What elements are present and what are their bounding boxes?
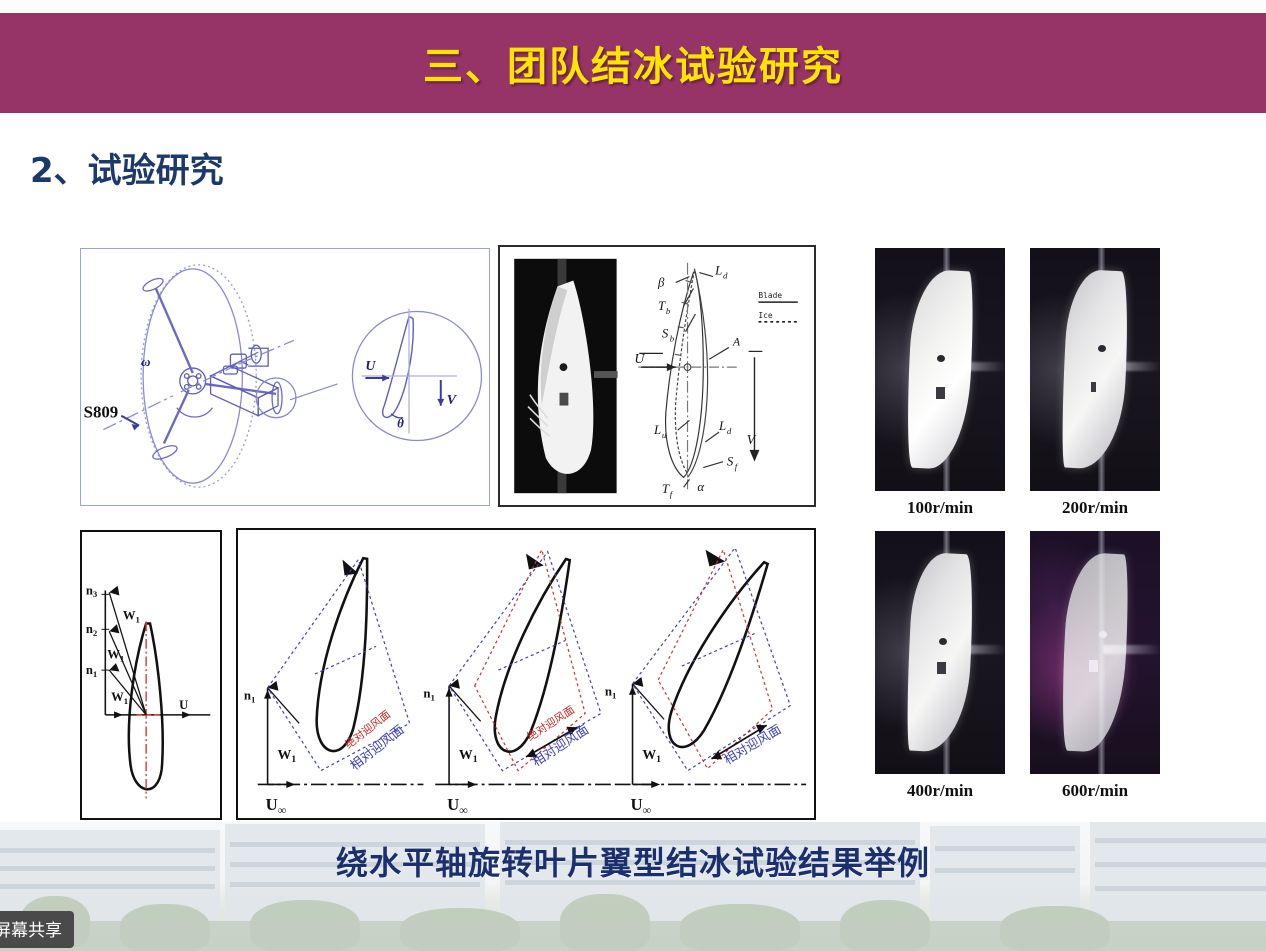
photo-cell-200: 200r/min: [1030, 248, 1160, 518]
ice-photo-200: [1030, 248, 1160, 491]
legend-ice-label: Ice: [758, 311, 772, 320]
label-u-vector: U: [634, 351, 645, 366]
iced-blade: [1059, 551, 1132, 753]
label-tb: T: [658, 299, 666, 313]
label-u: U: [365, 359, 376, 374]
marker-dot: [1098, 345, 1106, 352]
label-beta: β: [657, 275, 665, 289]
windward-surface-panel: n1 W1 U∞ 绝对迎风面 相对迎风面: [236, 528, 816, 820]
label-lu-sub: u: [662, 430, 667, 440]
velocity-triangle-panel: n1 n2 n3 W1 W1 W1 U: [80, 530, 222, 820]
photo-label-600: 600r/min: [1030, 781, 1160, 801]
photo-label-200: 200r/min: [1030, 498, 1160, 518]
marker-square: [936, 387, 945, 399]
label-a: A: [732, 334, 741, 348]
legend-blade-label: Blade: [758, 291, 782, 300]
marker-square: [1089, 660, 1098, 672]
label-alpha: α: [697, 480, 704, 494]
label-sf: S: [727, 455, 734, 469]
label-lu: L: [653, 423, 661, 437]
velocity-triangle-svg: n1 n2 n3 W1 W1 W1 U: [82, 532, 220, 818]
label-ld-top: L: [714, 264, 722, 278]
label-v: V: [447, 393, 458, 408]
slide-header-band: 三、团队结冰试验研究: [0, 13, 1266, 113]
screen-share-toast: 电的屏幕共享: [0, 911, 74, 948]
ice-photo-400: [875, 531, 1005, 774]
marker-dot: [939, 638, 947, 645]
iced-blade: [1059, 268, 1132, 470]
label-ld-top-sub: d: [723, 271, 728, 281]
photo-cell-600: 600r/min: [1030, 531, 1160, 801]
slide-caption: 绕水平轴旋转叶片翼型结冰试验结果举例: [0, 838, 1266, 884]
label-theta: θ: [397, 417, 404, 431]
rotating-rig-schematic-panel: ω U V θ S809: [80, 248, 490, 506]
ice-photo-600: [1030, 531, 1160, 774]
label-u: U: [179, 698, 188, 712]
marker-dot: [1099, 631, 1107, 638]
label-sb: S: [662, 327, 669, 341]
slide-root: 三、团队结冰试验研究 2、试验研究: [0, 0, 1266, 951]
page-title: 三、团队结冰试验研究: [423, 34, 843, 92]
iced-airfoil-photo: [514, 259, 617, 493]
marker-square: [1091, 382, 1096, 392]
ice-photo-grid: 100r/min 200r/min: [875, 248, 1160, 820]
airfoil-name-label: S809: [84, 403, 119, 422]
photo-label-400: 400r/min: [875, 781, 1005, 801]
label-ld-bottom-sub: d: [727, 426, 732, 436]
section-heading: 2、试验研究: [30, 143, 224, 192]
windward-surface-svg: n1 W1 U∞ 绝对迎风面 相对迎风面: [238, 530, 814, 818]
photo-label-100: 100r/min: [875, 498, 1005, 518]
label-omega: ω: [141, 355, 150, 369]
rotating-rig-svg: ω U V θ S809: [81, 249, 489, 505]
label-tf: T: [662, 482, 670, 496]
label-ld-bottom: L: [718, 419, 726, 433]
ice-photo-100: [875, 248, 1005, 491]
photo-cell-400: 400r/min: [875, 531, 1005, 801]
iced-airfoil-panel: β L d T b S b U A L u L d S f T f: [498, 245, 816, 507]
content-area: ω U V θ S809: [80, 248, 1160, 823]
iced-airfoil-svg: β L d T b S b U A L u L d S f T f: [500, 247, 814, 505]
iced-blade: [904, 268, 977, 470]
label-tb-sub: b: [666, 306, 671, 316]
iced-blade: [904, 551, 977, 753]
photo-cell-100: 100r/min: [875, 248, 1005, 518]
label-sb-sub: b: [670, 334, 675, 344]
marker-square: [937, 662, 946, 674]
